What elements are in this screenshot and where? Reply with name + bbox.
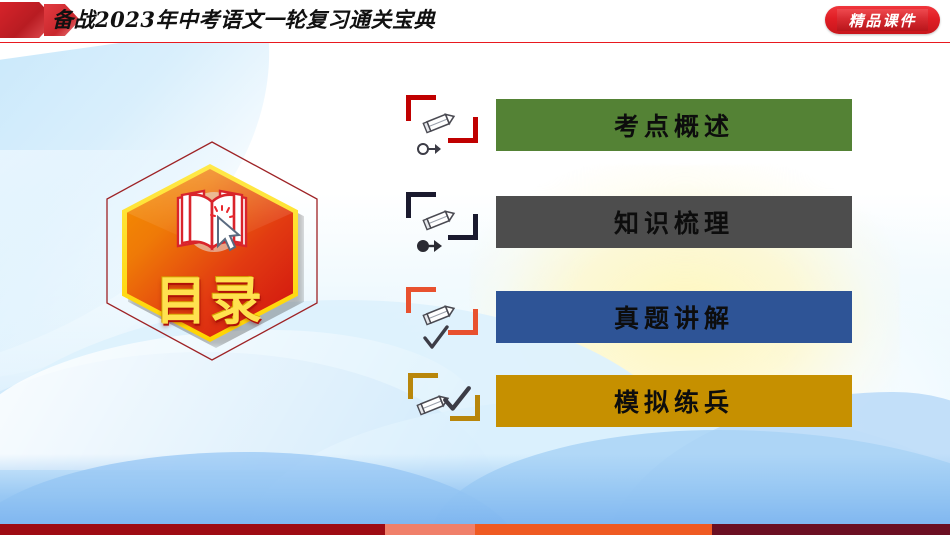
premium-badge-label: 精品课件 [825,6,940,34]
page-title: 备战2023年中考语文一轮复习通关宝典 [52,5,435,35]
contents-menu: 考点概述 [0,0,950,535]
decor-group-3 [400,283,492,355]
menu-row-4: 模拟练兵 [400,375,852,427]
key-icon [416,232,444,260]
menu-row-3: 真题讲解 [400,291,852,343]
menu-item-4[interactable]: 模拟练兵 [496,375,852,427]
pencil-icon [422,206,458,232]
menu-item-4-label: 模拟练兵 [614,383,734,419]
menu-item-1[interactable]: 考点概述 [496,99,852,151]
pencil-icon [422,109,458,135]
menu-item-2-label: 知识梳理 [614,204,734,240]
footer-color-strip [0,524,950,535]
check-icon [422,325,450,353]
menu-item-1-label: 考点概述 [614,107,734,143]
key-icon [416,135,444,163]
menu-item-2[interactable]: 知识梳理 [496,196,852,248]
pencil-icon [422,301,458,327]
footer-segment-salmon [385,524,475,535]
decor-group-1 [400,91,492,163]
decor-group-2 [400,188,492,260]
check-icon [442,385,472,415]
footer-segment-orange [475,524,712,535]
footer-segment-dark-red [0,524,385,535]
premium-badge: 精品课件 [825,6,940,34]
header-bar: 备战2023年中考语文一轮复习通关宝典 精品课件 [0,0,950,42]
footer-segment-maroon [712,524,950,535]
decor-group-4 [400,367,492,439]
slide-canvas: 备战2023年中考语文一轮复习通关宝典 精品课件 [0,0,950,535]
menu-row-2: 知识梳理 [400,196,852,248]
menu-item-3-label: 真题讲解 [614,299,734,335]
menu-item-3[interactable]: 真题讲解 [496,291,852,343]
menu-row-1: 考点概述 [400,99,852,151]
